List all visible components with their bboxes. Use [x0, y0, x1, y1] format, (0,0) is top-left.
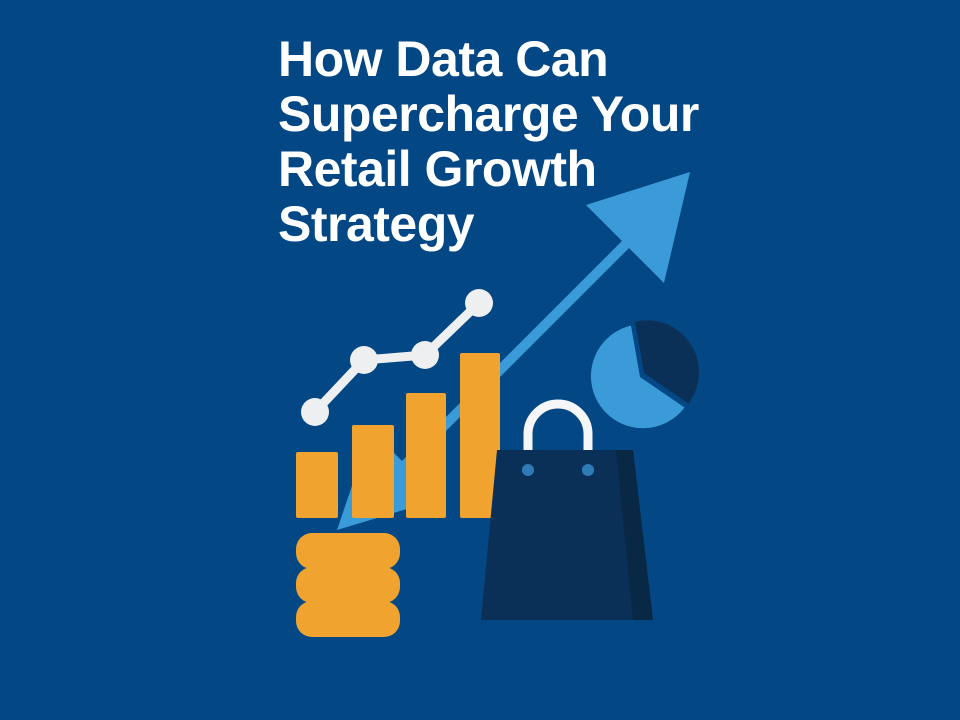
database-segment-1: [296, 533, 400, 569]
trend-point-2: [350, 346, 378, 374]
trend-point-4: [465, 289, 493, 317]
page-title: How Data Can Supercharge Your Retail Gro…: [278, 32, 738, 252]
database-segment-3: [296, 601, 400, 637]
bag-handle-rivet-right: [582, 464, 594, 476]
poster-canvas: How Data Can Supercharge Your Retail Gro…: [0, 0, 960, 720]
bar-1: [296, 452, 338, 518]
trend-point-1: [301, 398, 329, 426]
pie-chart-icon: [591, 320, 699, 428]
bag-handle-rivet-left: [522, 464, 534, 476]
bar-3: [406, 393, 446, 518]
database-segment-2: [296, 567, 400, 603]
trend-point-3: [411, 341, 439, 369]
bar-2: [352, 425, 394, 518]
database-stack-icon: [296, 533, 400, 637]
shopping-bag-icon: [481, 404, 653, 620]
